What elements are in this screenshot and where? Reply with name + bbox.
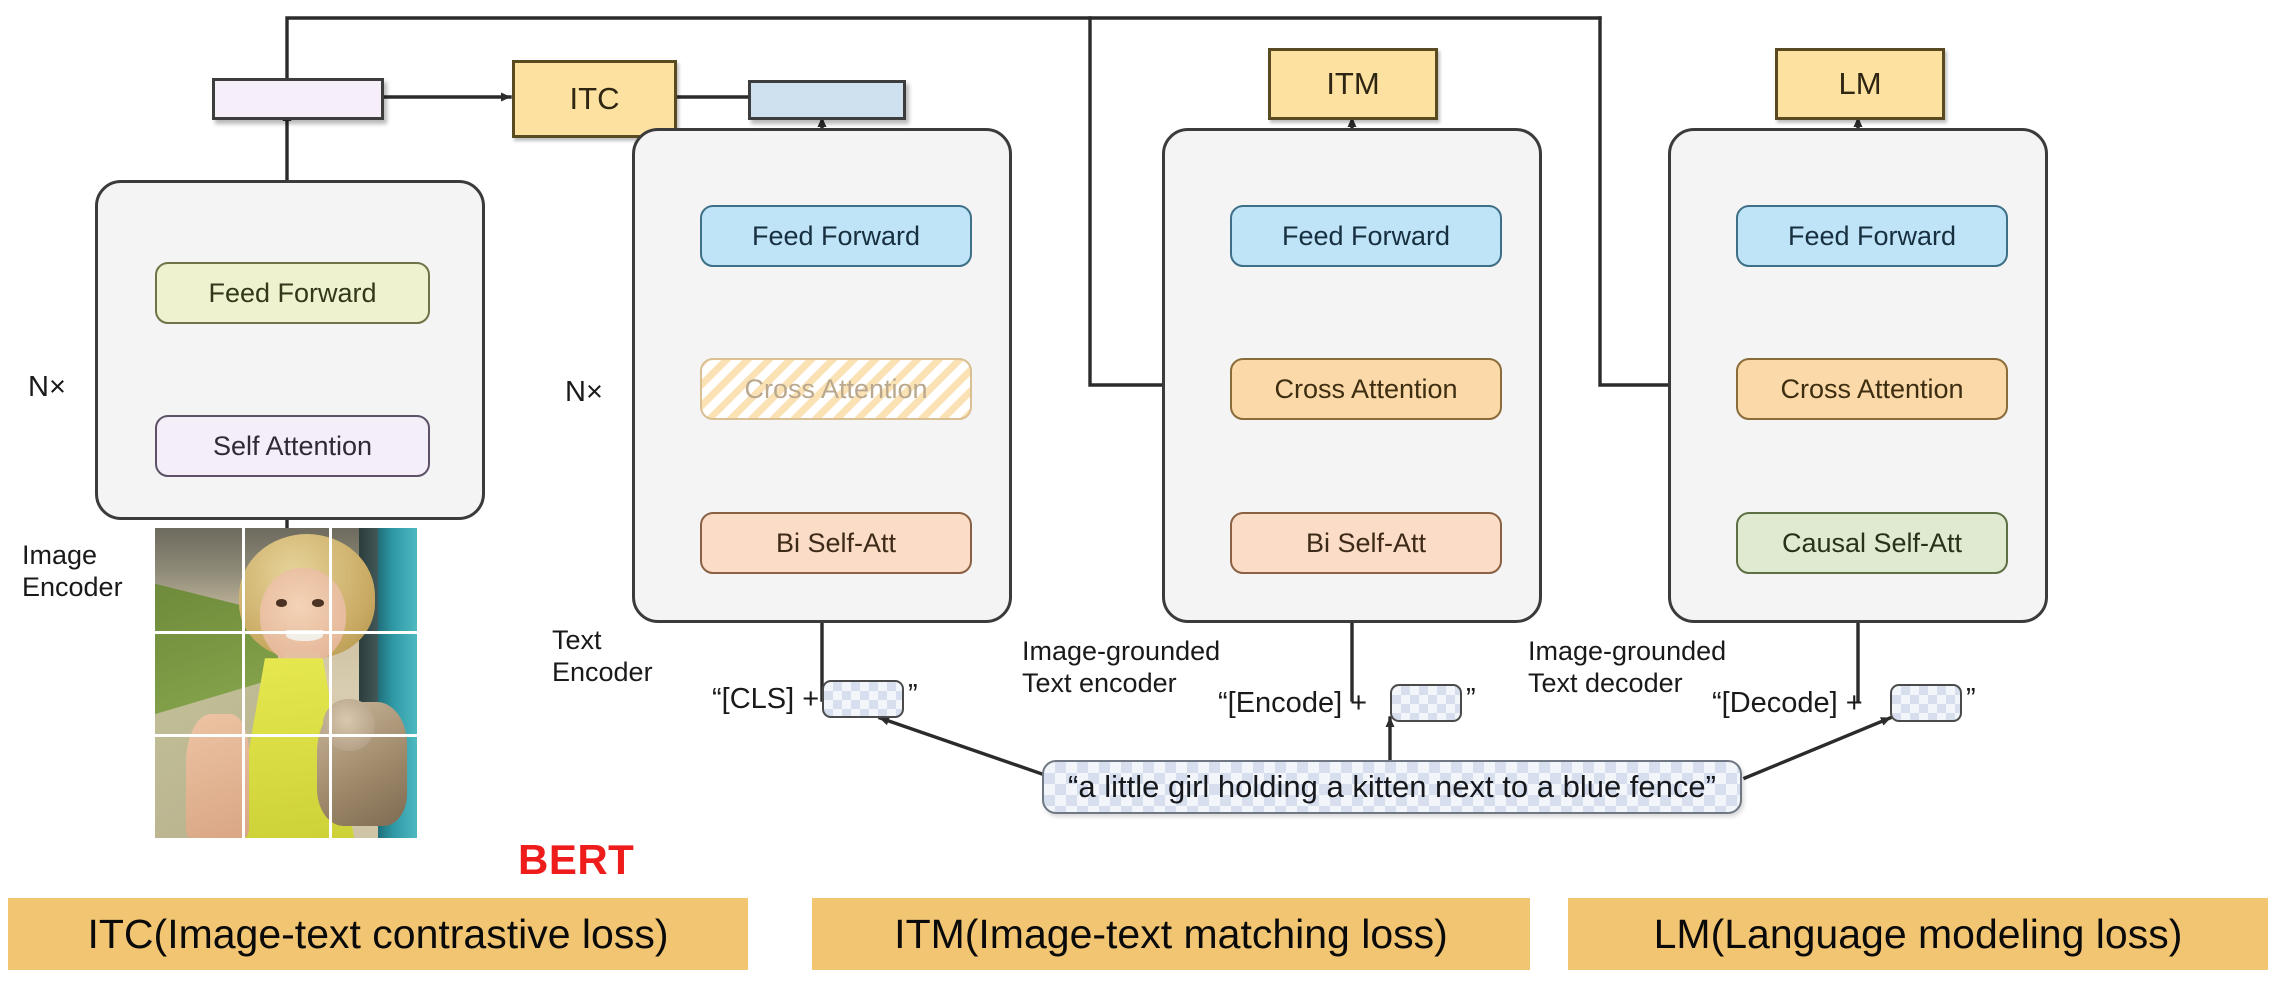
itm-token-suffix: ”	[1466, 682, 1476, 716]
text-encoder-token-chip	[822, 680, 904, 718]
text-feature-bar	[748, 80, 906, 120]
legend-itc: ITC(Image-text contrastive loss)	[8, 898, 748, 970]
itm-token-prefix: “[Encode] +	[1218, 686, 1367, 720]
text-encoder-caption: Text Encoder	[552, 625, 653, 689]
itm-bi-self-att-block[interactable]: Bi Self-Att	[1230, 512, 1502, 574]
lm-token-chip	[1890, 684, 1962, 722]
lm-cross-attention-block[interactable]: Cross Attention	[1736, 358, 2008, 420]
loss-box-itc[interactable]: ITC	[512, 60, 677, 138]
image-feature-bar	[212, 78, 384, 120]
text-encoder-feed-forward-block[interactable]: Feed Forward	[700, 205, 972, 267]
lm-causal-self-att-block[interactable]: Causal Self-Att	[1736, 512, 2008, 574]
image-encoder-repeat-label: N×	[28, 370, 66, 404]
image-self-attention-block[interactable]: Self Attention	[155, 415, 430, 477]
loss-box-lm[interactable]: LM	[1775, 48, 1945, 120]
legend-lm: LM(Language modeling loss)	[1568, 898, 2268, 970]
text-encoder-token-prefix: “[CLS] +	[712, 682, 819, 716]
text-encoder-cross-attention-block-disabled[interactable]: Cross Attention	[700, 358, 972, 420]
image-grounded-text-decoder-caption: Image-grounded Text decoder	[1528, 636, 1726, 700]
caption-text-box: “a little girl holding a kitten next to …	[1042, 760, 1742, 814]
itm-token-chip	[1390, 684, 1462, 722]
input-image-thumbnail	[155, 528, 417, 838]
loss-box-itm[interactable]: ITM	[1268, 48, 1438, 120]
lm-token-prefix: “[Decode] +	[1712, 686, 1863, 720]
image-feed-forward-block[interactable]: Feed Forward	[155, 262, 430, 324]
image-encoder-caption: Image Encoder	[22, 540, 123, 604]
legend-itm: ITM(Image-text matching loss)	[812, 898, 1530, 970]
itm-cross-attention-block[interactable]: Cross Attention	[1230, 358, 1502, 420]
lm-token-suffix: ”	[1966, 682, 1976, 716]
text-encoder-token-suffix: ”	[908, 678, 918, 712]
itm-feed-forward-block[interactable]: Feed Forward	[1230, 205, 1502, 267]
image-grounded-text-encoder-caption: Image-grounded Text encoder	[1022, 636, 1220, 700]
text-encoder-bi-self-att-block[interactable]: Bi Self-Att	[700, 512, 972, 574]
diagram-canvas: Feed Forward Self Attention N× Image Enc…	[0, 0, 2276, 986]
text-encoder-repeat-label: N×	[565, 375, 603, 409]
lm-feed-forward-block[interactable]: Feed Forward	[1736, 205, 2008, 267]
bert-annotation-label: BERT	[518, 836, 634, 884]
